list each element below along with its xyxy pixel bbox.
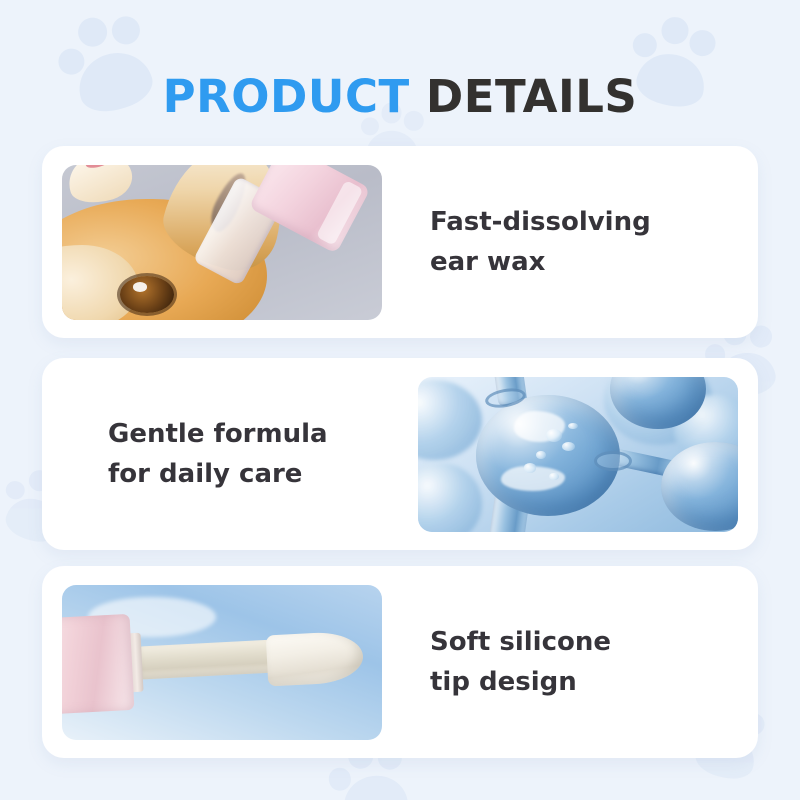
feature-text-line-2: ear wax — [430, 242, 720, 282]
corgi-ear-drops-image — [62, 165, 382, 320]
feature-card-soft-silicone[interactable]: Soft silicone tip design — [42, 566, 758, 758]
paw-toe-icon — [631, 31, 659, 59]
dropper-cap-shape — [62, 613, 135, 713]
dog-eye-shape — [120, 276, 174, 313]
paw-toe-icon — [327, 766, 353, 792]
page-title-highlight: PRODUCT — [163, 70, 410, 123]
molecule-sphere-shape — [661, 442, 738, 532]
bubble-shape — [546, 429, 562, 441]
page-title-rest: DETAILS — [426, 70, 637, 123]
bubble-shape — [562, 442, 575, 451]
feature-text-line-2: tip design — [430, 662, 720, 702]
molecule-structure-photo — [418, 377, 738, 532]
paw-pad-icon — [340, 771, 411, 800]
paw-toe-icon — [55, 46, 87, 78]
feature-card-text: Fast-dissolving ear wax — [382, 202, 738, 283]
bubble-shape — [536, 451, 546, 459]
background-sphere-shape — [418, 463, 482, 531]
feature-text-line-2: for daily care — [108, 454, 400, 494]
paw-toe-icon — [659, 14, 691, 46]
corgi-ear-drops-photo — [62, 165, 382, 320]
paw-toe-icon — [3, 478, 27, 502]
feature-card-fast-dissolving[interactable]: Fast-dissolving ear wax — [42, 146, 758, 338]
silicone-dropper-image — [62, 585, 382, 740]
feature-text-line-1: Fast-dissolving — [430, 202, 720, 242]
silicone-dropper-photo — [62, 585, 382, 740]
page-title: PRODUCT DETAILS — [0, 74, 800, 119]
feature-card-text: Soft silicone tip design — [382, 622, 738, 703]
bubble-shape — [549, 473, 559, 481]
dropper-stem-shape — [138, 640, 277, 680]
paw-toe-icon — [109, 13, 144, 48]
feature-card-gentle-formula[interactable]: Gentle formula for daily care — [42, 358, 758, 550]
bubble-shape — [524, 463, 537, 472]
paw-toe-icon — [75, 14, 111, 50]
background-sphere-shape — [418, 380, 482, 461]
molecule-structure-image — [418, 377, 738, 532]
product-details-page: PRODUCT DETAILS Fast-dissolving ear wax — [0, 0, 800, 800]
silicone-tip-shape — [266, 630, 365, 686]
feature-card-text: Gentle formula for daily care — [62, 414, 418, 495]
feature-text-line-1: Soft silicone — [430, 622, 720, 662]
molecule-joint-shape — [594, 451, 632, 471]
feature-text-line-1: Gentle formula — [108, 414, 400, 454]
paw-toe-icon — [687, 28, 718, 59]
